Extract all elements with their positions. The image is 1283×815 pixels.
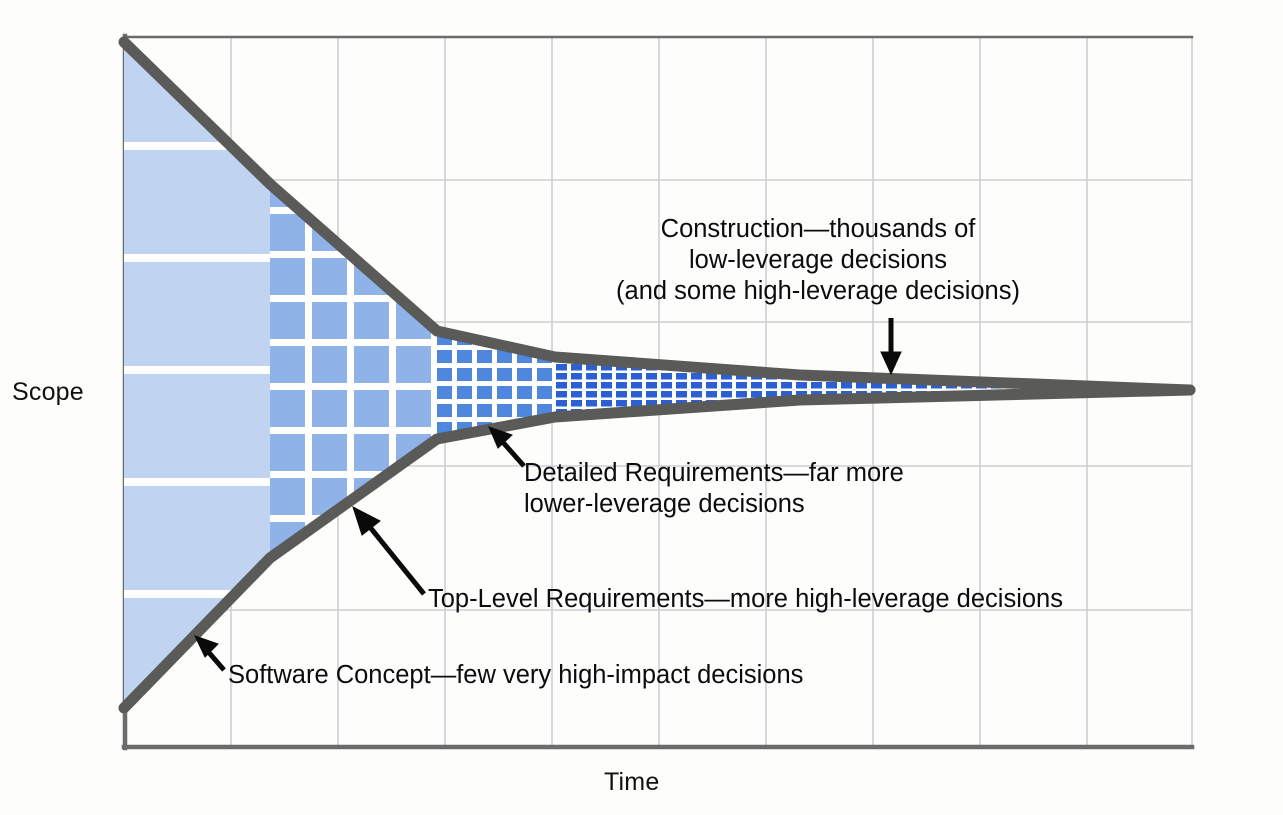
annotation-top-level-requirements-line-1: Top-Level Requirements—more high-leverag… — [428, 584, 1063, 615]
annotation-software-concept-line-1: Software Concept—few very high-impact de… — [228, 660, 803, 691]
arrow-construction — [881, 318, 901, 374]
annotation-detailed-requirements: Detailed Requirements—far more lower-lev… — [524, 458, 904, 520]
zone-top-level-requirements — [260, 0, 460, 815]
arrow-top-level-requirements — [353, 507, 424, 594]
annotation-detailed-requirements-line-2: lower-leverage decisions — [524, 489, 904, 520]
annotation-construction: Construction—thousands of low-leverage d… — [608, 214, 1028, 307]
annotation-construction-line-1: Construction—thousands of — [608, 214, 1028, 245]
annotation-top-level-requirements: Top-Level Requirements—more high-leverag… — [428, 584, 1063, 615]
annotation-software-concept: Software Concept—few very high-impact de… — [228, 660, 803, 691]
funnel-diagram-svg — [0, 0, 1283, 815]
arrow-detailed-requirements — [489, 427, 524, 466]
zone-detailed-requirements — [430, 0, 570, 815]
y-axis-label: Scope — [12, 378, 84, 407]
annotation-construction-line-3: (and some high-leverage decisions) — [608, 276, 1028, 307]
arrow-software-concept — [195, 636, 224, 670]
x-axis-label: Time — [604, 768, 659, 797]
annotation-construction-line-2: low-leverage decisions — [608, 245, 1028, 276]
annotation-detailed-requirements-line-1: Detailed Requirements—far more — [524, 458, 904, 489]
figure-canvas: Scope Time Construction—thousands of low… — [0, 0, 1283, 815]
